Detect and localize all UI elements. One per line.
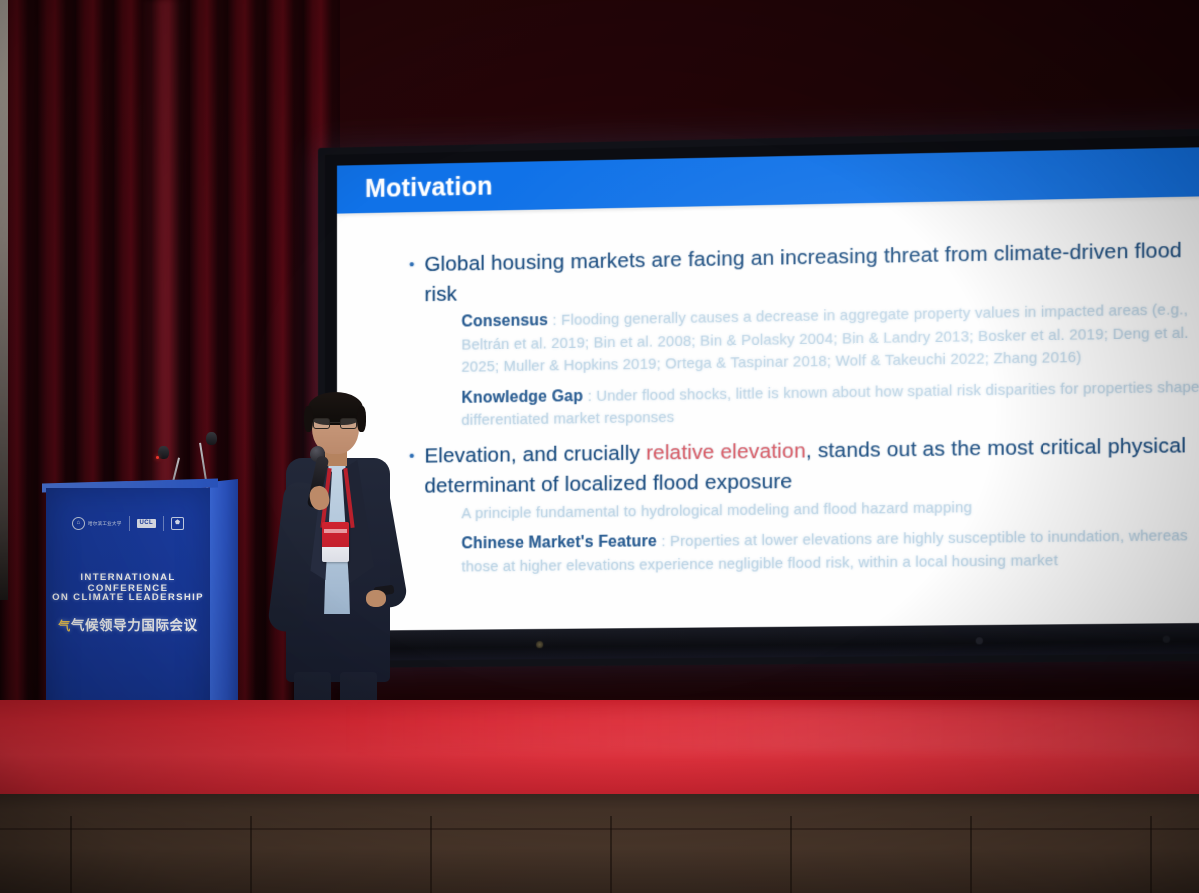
panel-seam xyxy=(430,816,432,893)
sub-lead-knowledge-gap: Knowledge Gap xyxy=(461,387,583,406)
partner-emblem-icon: ⬟ xyxy=(171,517,184,530)
sensor-icon xyxy=(976,637,983,644)
carpet-highlight xyxy=(340,706,1199,752)
host-university-logo: ⌂ 哈尔滨工业大学 xyxy=(72,517,122,530)
conference-photo-scene: Motivation • Global housing markets are … xyxy=(0,0,1199,893)
slide-body: • Global housing markets are facing an i… xyxy=(337,196,1199,598)
partner-logo: ⬟ xyxy=(171,517,184,530)
bullet-marker-icon-2: • xyxy=(409,441,414,501)
glasses-lens-left xyxy=(313,418,330,429)
host-university-name: 哈尔滨工业大学 xyxy=(88,521,122,527)
bullet-1-text: Global housing markets are facing an inc… xyxy=(424,235,1193,310)
slide-bullet-1: • Global housing markets are facing an i… xyxy=(409,235,1199,310)
panel-top-moulding xyxy=(0,828,1199,830)
glasses-lens-right xyxy=(340,418,357,429)
slide-bullet-2: • Elevation, and crucially relative elev… xyxy=(409,430,1199,501)
panel-seam xyxy=(1150,816,1152,893)
presenter-right-hand xyxy=(366,590,386,607)
mic-head xyxy=(206,432,217,445)
conference-title-chinese-text: 气候领导力国际会议 xyxy=(71,618,198,633)
panel-seam xyxy=(70,816,72,893)
slide-title: Motivation xyxy=(365,172,493,204)
sub-body-principle: A principle fundamental to hydrological … xyxy=(461,499,972,521)
panel-seam xyxy=(970,816,972,893)
glasses-bridge xyxy=(330,422,340,423)
slide-surface: Motivation • Global housing markets are … xyxy=(337,147,1199,631)
conference-title-line2: ON CLIMATE LEADERSHIP xyxy=(46,592,210,603)
conference-logo-glyph: 气 xyxy=(58,619,71,633)
ucl-wordmark: UCL xyxy=(137,519,157,529)
bullet-2-text-before: Elevation, and crucially xyxy=(424,441,645,467)
mic-head xyxy=(158,446,169,459)
university-crest-icon: ⌂ xyxy=(72,517,85,530)
bullet-1-subblock-knowledge-gap: Knowledge Gap : Under flood shocks, litt… xyxy=(461,376,1199,433)
presenter-hair-left xyxy=(304,406,313,432)
bullet-2-text: Elevation, and crucially relative elevat… xyxy=(424,430,1193,501)
podium-logo-row: ⌂ 哈尔滨工业大学 UCL ⬟ xyxy=(46,516,210,531)
bullet-2-subblock-chinese-market: Chinese Market's Feature : Properties at… xyxy=(461,525,1199,579)
bullet-1-subblock-consensus: Consensus : Flooding generally causes a … xyxy=(461,299,1199,380)
panel-seam xyxy=(250,816,252,893)
presenter-glasses xyxy=(313,418,358,430)
sub-lead-chinese-market: Chinese Market's Feature xyxy=(461,533,656,552)
conference-badge xyxy=(322,522,349,562)
presentation-screen[interactable]: Motivation • Global housing markets are … xyxy=(318,128,1199,668)
power-led-icon xyxy=(536,641,543,648)
panel-seam xyxy=(610,816,612,893)
bullet-2-accent-phrase: relative elevation xyxy=(646,439,806,464)
logo-divider xyxy=(129,516,130,531)
conference-title-line1: INTERNATIONAL CONFERENCE xyxy=(46,572,210,594)
ucl-logo: UCL xyxy=(137,519,157,529)
panel-seam xyxy=(790,816,792,893)
logo-divider-2 xyxy=(163,516,164,531)
badge-text-line xyxy=(324,529,347,533)
stage-front-wood-panel xyxy=(0,794,1199,893)
sub-body-consensus: : Flooding generally causes a decrease i… xyxy=(461,302,1188,376)
brand-mark-icon xyxy=(1163,636,1170,643)
left-wall-edge xyxy=(0,0,8,600)
sub-lead-consensus: Consensus xyxy=(461,312,548,331)
mic-led-icon xyxy=(156,456,159,459)
bullet-marker-icon: • xyxy=(409,250,414,310)
conference-title-chinese: 气气候领导力国际会议 xyxy=(46,614,210,634)
presenter-hair-right xyxy=(357,406,366,432)
